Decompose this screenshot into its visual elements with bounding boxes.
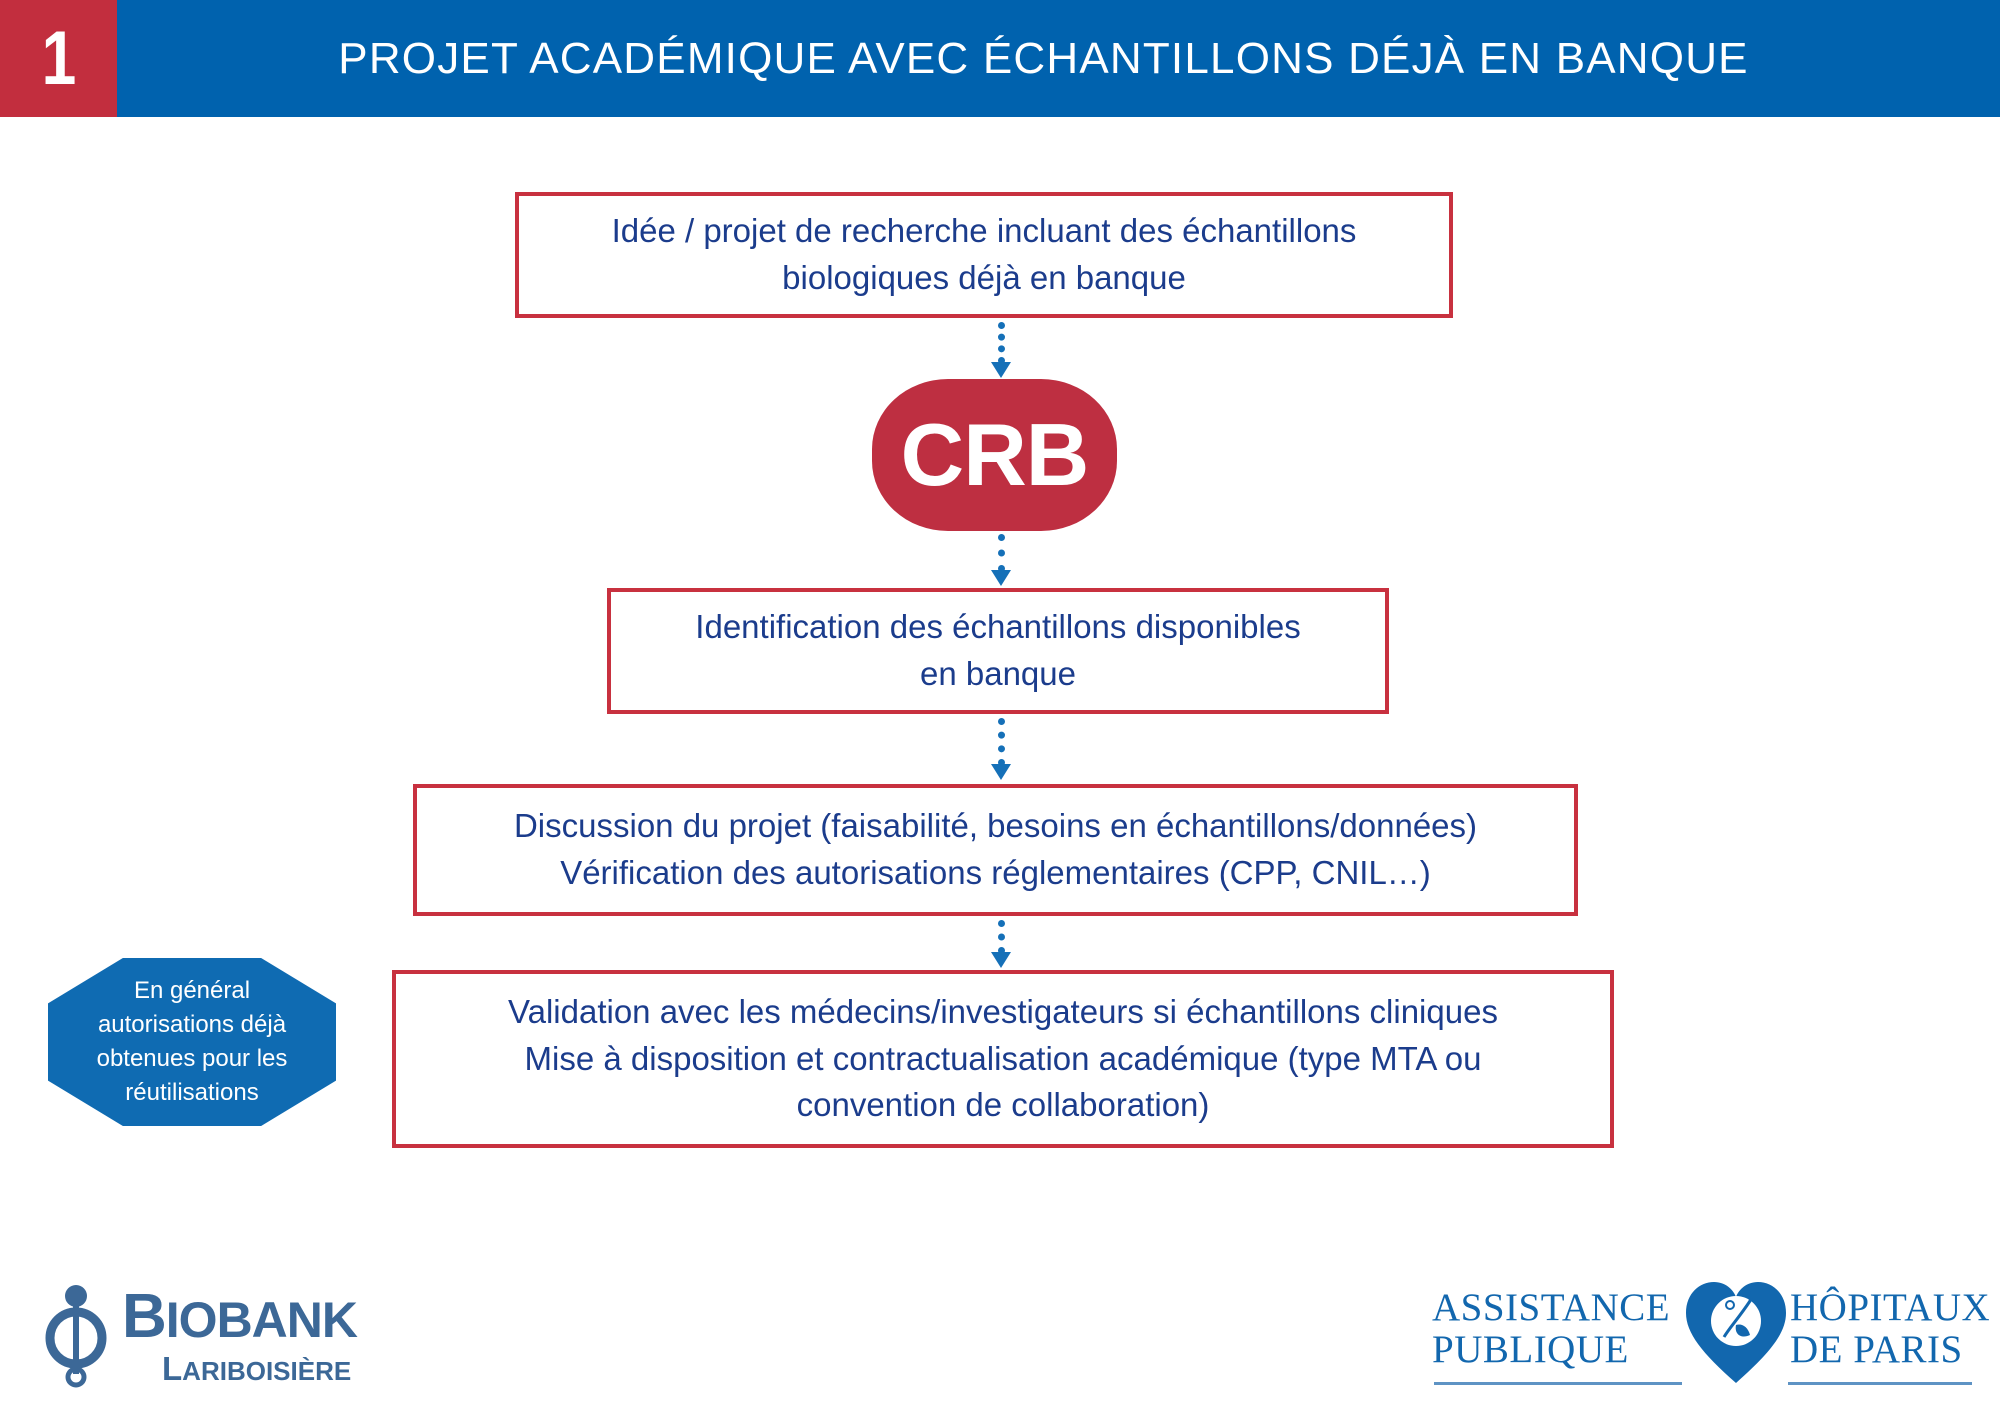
page-title: PROJET ACADÉMIQUE AVEC ÉCHANTILLONS DÉJÀ… (117, 0, 2000, 117)
arrow-stem (998, 534, 1005, 572)
step-number: 1 (42, 21, 75, 97)
flow-step-validation: Validation avec les médecins/investigate… (392, 970, 1614, 1148)
biobank-logo: BIOBANK LARIBOISIÈRE (34, 1280, 334, 1390)
arrow-stem (998, 920, 1005, 954)
flow-step-idea: Idée / projet de recherche incluant des … (515, 192, 1453, 318)
side-note-label: En général autorisations déjà obtenues p… (97, 974, 288, 1110)
flow-step-discussion-label: Discussion du projet (faisabilité, besoi… (435, 803, 1556, 897)
flow-step-discussion: Discussion du projet (faisabilité, besoi… (413, 784, 1578, 916)
arrow-head-icon (991, 952, 1011, 968)
flow-step-idea-label: Idée / projet de recherche incluant des … (537, 208, 1431, 302)
arrow-head-icon (991, 570, 1011, 586)
arrow-stem (998, 718, 1005, 766)
biobank-sub-word: LARIBOISIÈRE (162, 1350, 357, 1388)
crb-badge: CRB (872, 379, 1117, 531)
aphp-line-hopitaux: HÔPITAUX (1790, 1287, 1990, 1329)
arrow-head-icon (991, 764, 1011, 780)
flow-step-identification-label: Identification des échantillons disponib… (629, 604, 1367, 698)
flow-arrow-idea-to-crb (996, 322, 1006, 378)
aphp-rule-left (1434, 1382, 1682, 1385)
side-note-badge: En général autorisations déjà obtenues p… (48, 958, 336, 1126)
aphp-logo: ASSISTANCE PUBLIQUE HÔPITAUX DE PARIS (1432, 1283, 1972, 1391)
arrow-stem (998, 322, 1005, 364)
flow-step-identification: Identification des échantillons disponib… (607, 588, 1389, 714)
aphp-right-text: HÔPITAUX DE PARIS (1790, 1287, 1990, 1371)
flow-arrow-identification-to-discussion (996, 718, 1006, 780)
arrow-head-icon (991, 362, 1011, 378)
flow-arrow-discussion-to-validation (996, 920, 1006, 968)
aphp-line-publique: PUBLIQUE (1432, 1329, 1670, 1371)
flow-arrow-crb-to-identification (996, 534, 1006, 586)
step-number-badge: 1 (0, 0, 117, 117)
aphp-line-assistance: ASSISTANCE (1432, 1287, 1670, 1329)
flow-step-validation-label: Validation avec les médecins/investigate… (414, 989, 1592, 1130)
aphp-heart-icon (1684, 1279, 1788, 1387)
crb-label: CRB (901, 411, 1089, 499)
aphp-rule-right (1788, 1382, 1972, 1385)
biobank-wordmark: BIOBANK LARIBOISIÈRE (122, 1286, 357, 1388)
biobank-mark-icon (34, 1284, 118, 1390)
aphp-line-de-paris: DE PARIS (1790, 1329, 1990, 1371)
aphp-left-text: ASSISTANCE PUBLIQUE (1432, 1287, 1670, 1371)
biobank-main-word: BIOBANK (122, 1286, 357, 1348)
page-header: 1 PROJET ACADÉMIQUE AVEC ÉCHANTILLONS DÉ… (0, 0, 2000, 117)
